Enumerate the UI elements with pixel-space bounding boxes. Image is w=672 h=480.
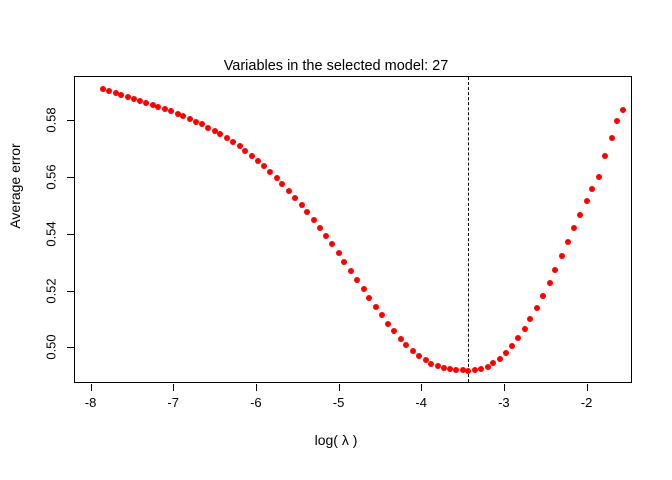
data-point: [596, 174, 602, 180]
x-axis-tick: [91, 384, 92, 391]
data-point: [602, 153, 608, 159]
x-axis-tick: [173, 384, 174, 391]
y-axis-tick-label-text: 0.52: [44, 278, 58, 303]
data-point: [366, 295, 372, 301]
data-point: [317, 225, 323, 231]
data-point: [435, 363, 441, 369]
x-axis-tick-label: -5: [319, 395, 359, 410]
data-point: [614, 118, 620, 124]
data-point: [205, 125, 211, 131]
x-axis-tick-label: -8: [71, 395, 111, 410]
data-point: [559, 253, 565, 259]
data-point: [336, 250, 342, 256]
x-axis-label: log( λ ): [0, 432, 672, 449]
x-axis-tick: [256, 384, 257, 391]
x-axis-tick-label: -7: [153, 395, 193, 410]
data-point: [398, 336, 404, 342]
data-point: [292, 195, 298, 201]
data-point: [267, 169, 273, 175]
plot-data-area: [75, 77, 631, 382]
chart-title: Variables in the selected model: 27: [0, 58, 672, 74]
data-point: [261, 163, 267, 169]
y-axis-tick-label-text: 0.54: [44, 221, 58, 246]
x-axis-tick-label: -6: [236, 395, 276, 410]
data-point: [348, 268, 354, 274]
data-point: [329, 241, 335, 247]
data-point: [571, 225, 577, 231]
data-point: [361, 286, 367, 292]
lambda-min-dashed-line: [468, 77, 469, 382]
data-point: [379, 312, 385, 318]
data-point: [131, 96, 137, 102]
x-axis-tick-label: -2: [567, 395, 607, 410]
y-axis-tick-label-text: 0.58: [44, 107, 58, 132]
x-axis-tick: [421, 384, 422, 391]
y-axis-tick-label: 0.50: [0, 340, 64, 354]
x-axis-tick: [504, 384, 505, 391]
data-point: [299, 202, 305, 208]
data-point: [255, 158, 261, 164]
data-point: [187, 116, 193, 122]
data-point: [584, 198, 590, 204]
data-point: [552, 267, 558, 273]
data-point: [279, 181, 285, 187]
data-point: [242, 148, 248, 154]
data-point: [465, 368, 471, 374]
data-point: [540, 293, 546, 299]
data-point: [515, 335, 521, 341]
data-point: [391, 328, 397, 334]
y-axis-tick: [67, 347, 74, 348]
x-axis-tick-label: -4: [401, 395, 441, 410]
data-point: [522, 326, 528, 332]
data-point: [155, 104, 161, 110]
data-point: [106, 88, 112, 94]
y-axis-tick: [67, 177, 74, 178]
data-point: [497, 356, 503, 362]
y-axis-tick-label: 0.52: [0, 284, 64, 298]
y-axis-tick: [67, 291, 74, 292]
data-point: [410, 348, 416, 354]
data-point: [403, 342, 409, 348]
data-point: [547, 280, 553, 286]
data-point: [341, 259, 347, 265]
data-point: [354, 277, 360, 283]
data-point: [143, 100, 149, 106]
y-axis-tick-label: 0.58: [0, 113, 64, 127]
x-axis-tick-label: -3: [484, 395, 524, 410]
data-point: [286, 188, 292, 194]
data-point: [441, 365, 447, 371]
data-point: [589, 186, 595, 192]
cv-plot-figure: Variables in the selected model: 27 -8-7…: [0, 0, 672, 480]
x-axis-tick: [339, 384, 340, 391]
data-point: [217, 131, 223, 137]
data-point: [373, 304, 379, 310]
data-point: [428, 361, 434, 367]
data-point: [609, 135, 615, 141]
data-point: [385, 321, 391, 327]
data-point: [453, 367, 459, 373]
x-axis-tick: [587, 384, 588, 391]
y-axis-label: Average error: [7, 126, 23, 246]
data-point: [311, 217, 317, 223]
data-point: [620, 107, 626, 113]
data-point: [193, 119, 199, 125]
y-axis-tick-label-text: 0.56: [44, 164, 58, 189]
y-axis-tick-label-text: 0.50: [44, 335, 58, 360]
data-point: [509, 343, 515, 349]
data-point: [118, 92, 124, 98]
plot-panel: [74, 76, 632, 383]
y-axis-tick: [67, 120, 74, 121]
y-axis-tick: [67, 234, 74, 235]
data-point: [503, 350, 509, 356]
data-point: [168, 108, 174, 114]
data-point: [249, 153, 255, 159]
data-point: [323, 233, 329, 239]
data-point: [478, 366, 484, 372]
data-point: [534, 305, 540, 311]
data-point: [490, 360, 496, 366]
data-point: [565, 239, 571, 245]
data-point: [274, 175, 280, 181]
data-point: [577, 212, 583, 218]
data-point: [527, 316, 533, 322]
data-point: [416, 353, 422, 359]
data-point: [230, 139, 236, 145]
data-point: [180, 113, 186, 119]
data-point: [304, 209, 310, 215]
